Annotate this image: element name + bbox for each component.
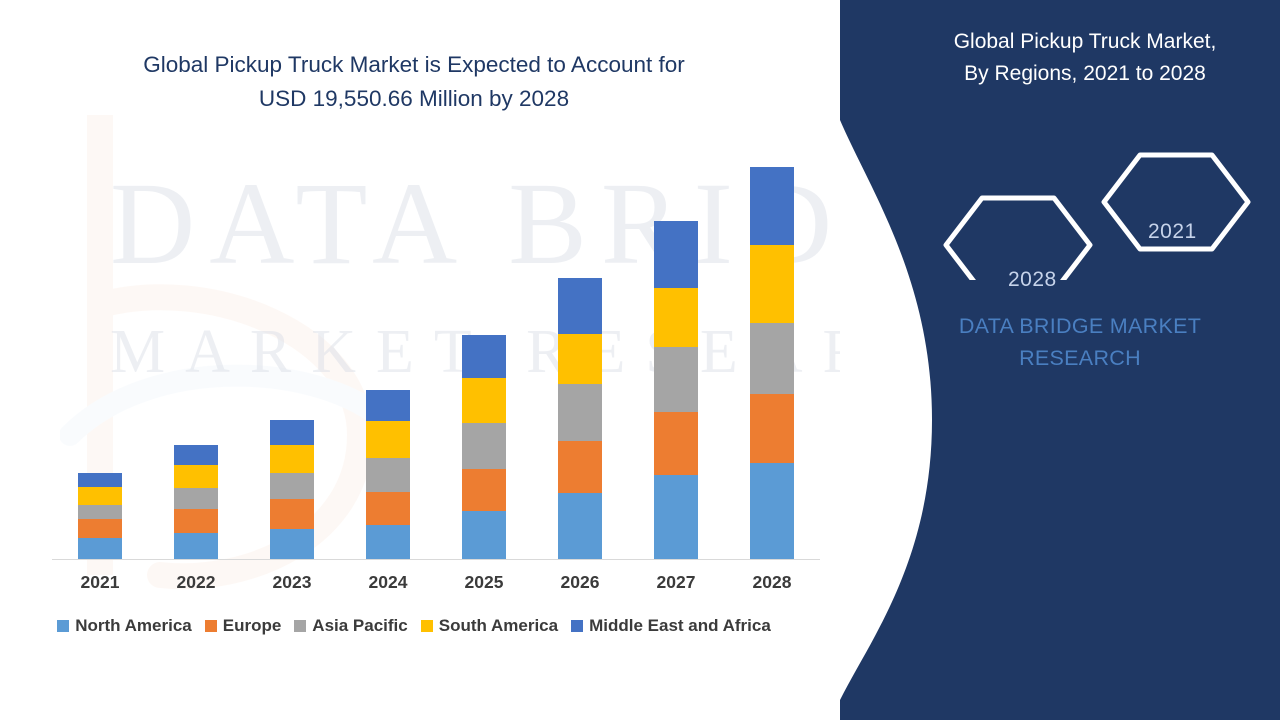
- bar-segment: [366, 525, 410, 559]
- bar-segment: [750, 463, 794, 559]
- legend-label: Europe: [223, 616, 282, 636]
- brand-name: DATA BRIDGE MARKET RESEARCH: [880, 310, 1280, 374]
- bar-segment: [750, 245, 794, 324]
- bar-segment: [78, 505, 122, 520]
- bar-group: [462, 335, 506, 559]
- legend-label: North America: [75, 616, 192, 636]
- bar-segment: [462, 423, 506, 469]
- bar-segment: [366, 390, 410, 420]
- bar-segment: [462, 335, 506, 378]
- bar-segment: [270, 420, 314, 445]
- bar-segment: [750, 167, 794, 245]
- bar-segment: [270, 529, 314, 559]
- bar-segment: [270, 445, 314, 473]
- x-axis-tick-2026: 2026: [545, 572, 615, 593]
- bar-segment: [78, 473, 122, 487]
- brand-panel-title-line1: Global Pickup Truck Market,: [900, 26, 1270, 58]
- legend-label: South America: [439, 616, 558, 636]
- bar-segment: [558, 493, 602, 559]
- bar-segment: [654, 288, 698, 348]
- legend-swatch-icon: [57, 620, 69, 632]
- bar-segment: [174, 488, 218, 509]
- bar-segment: [654, 475, 698, 559]
- bar-group: [654, 221, 698, 559]
- legend-swatch-icon: [205, 620, 217, 632]
- bar-segment: [558, 384, 602, 441]
- brand-name-line1: DATA BRIDGE MARKET: [880, 310, 1280, 342]
- bar-segment: [78, 538, 122, 559]
- x-axis-tick-2028: 2028: [737, 572, 807, 593]
- bar-segment: [654, 412, 698, 475]
- chart-title: Global Pickup Truck Market is Expected t…: [0, 48, 828, 116]
- stacked-bar-plot: [52, 140, 820, 560]
- bar-group: [558, 278, 602, 559]
- bar-segment: [558, 334, 602, 384]
- bar-group: [174, 445, 218, 559]
- bar-segment: [654, 221, 698, 288]
- bar-segment: [270, 499, 314, 528]
- x-axis-tick-2021: 2021: [65, 572, 135, 593]
- x-axis-tick-2023: 2023: [257, 572, 327, 593]
- bar-group: [270, 420, 314, 559]
- bar-segment: [78, 519, 122, 538]
- legend-item[interactable]: Europe: [205, 616, 282, 636]
- x-axis-tick-2025: 2025: [449, 572, 519, 593]
- bar-segment: [654, 347, 698, 412]
- bar-segment: [750, 323, 794, 393]
- infographic-canvas: DATA BRIDGE MARKET RESEARCH Global Picku…: [0, 0, 1280, 720]
- legend-item[interactable]: South America: [421, 616, 558, 636]
- bar-segment: [174, 509, 218, 533]
- hexagon-badge-2028-label: 2028: [1008, 268, 1057, 292]
- x-axis-line: [52, 559, 820, 560]
- legend-item[interactable]: Middle East and Africa: [571, 616, 771, 636]
- brand-name-line2: RESEARCH: [880, 342, 1280, 374]
- x-axis-tick-2024: 2024: [353, 572, 423, 593]
- bar-segment: [174, 533, 218, 559]
- bar-segment: [270, 473, 314, 499]
- bar-segment: [174, 465, 218, 488]
- legend-swatch-icon: [421, 620, 433, 632]
- brand-panel-content: Global Pickup Truck Market, By Regions, …: [840, 0, 1280, 720]
- legend-item[interactable]: Asia Pacific: [294, 616, 407, 636]
- brand-panel: Global Pickup Truck Market, By Regions, …: [840, 0, 1280, 720]
- brand-panel-title: Global Pickup Truck Market, By Regions, …: [900, 26, 1270, 90]
- bar-group: [78, 473, 122, 559]
- hexagon-outlines-icon: [900, 150, 1280, 280]
- legend-label: Asia Pacific: [312, 616, 407, 636]
- bar-segment: [78, 487, 122, 505]
- x-axis-tick-labels: 20212022202320242025202620272028: [52, 572, 820, 602]
- hexagon-badges: 2021 2028: [900, 150, 1280, 280]
- legend-swatch-icon: [294, 620, 306, 632]
- hexagon-badge-2021-label: 2021: [1148, 220, 1197, 244]
- legend-swatch-icon: [571, 620, 583, 632]
- bar-segment: [558, 441, 602, 493]
- legend-label: Middle East and Africa: [589, 616, 771, 636]
- brand-panel-title-line2: By Regions, 2021 to 2028: [900, 58, 1270, 90]
- bar-segment: [462, 378, 506, 423]
- chart-legend: North AmericaEuropeAsia PacificSouth Ame…: [0, 616, 828, 636]
- chart-title-line2: USD 19,550.66 Million by 2028: [0, 82, 828, 116]
- chart-panel: DATA BRIDGE MARKET RESEARCH Global Picku…: [0, 0, 960, 720]
- bar-group: [750, 167, 794, 559]
- bar-segment: [366, 421, 410, 459]
- bar-segment: [366, 458, 410, 492]
- bar-segment: [750, 394, 794, 463]
- bar-segment: [558, 278, 602, 334]
- bar-segment: [462, 469, 506, 511]
- bar-group: [366, 390, 410, 559]
- bar-segment: [366, 492, 410, 526]
- legend-item[interactable]: North America: [57, 616, 192, 636]
- x-axis-tick-2027: 2027: [641, 572, 711, 593]
- chart-title-line1: Global Pickup Truck Market is Expected t…: [0, 48, 828, 82]
- bar-segment: [462, 511, 506, 559]
- bar-segment: [174, 445, 218, 465]
- x-axis-tick-2022: 2022: [161, 572, 231, 593]
